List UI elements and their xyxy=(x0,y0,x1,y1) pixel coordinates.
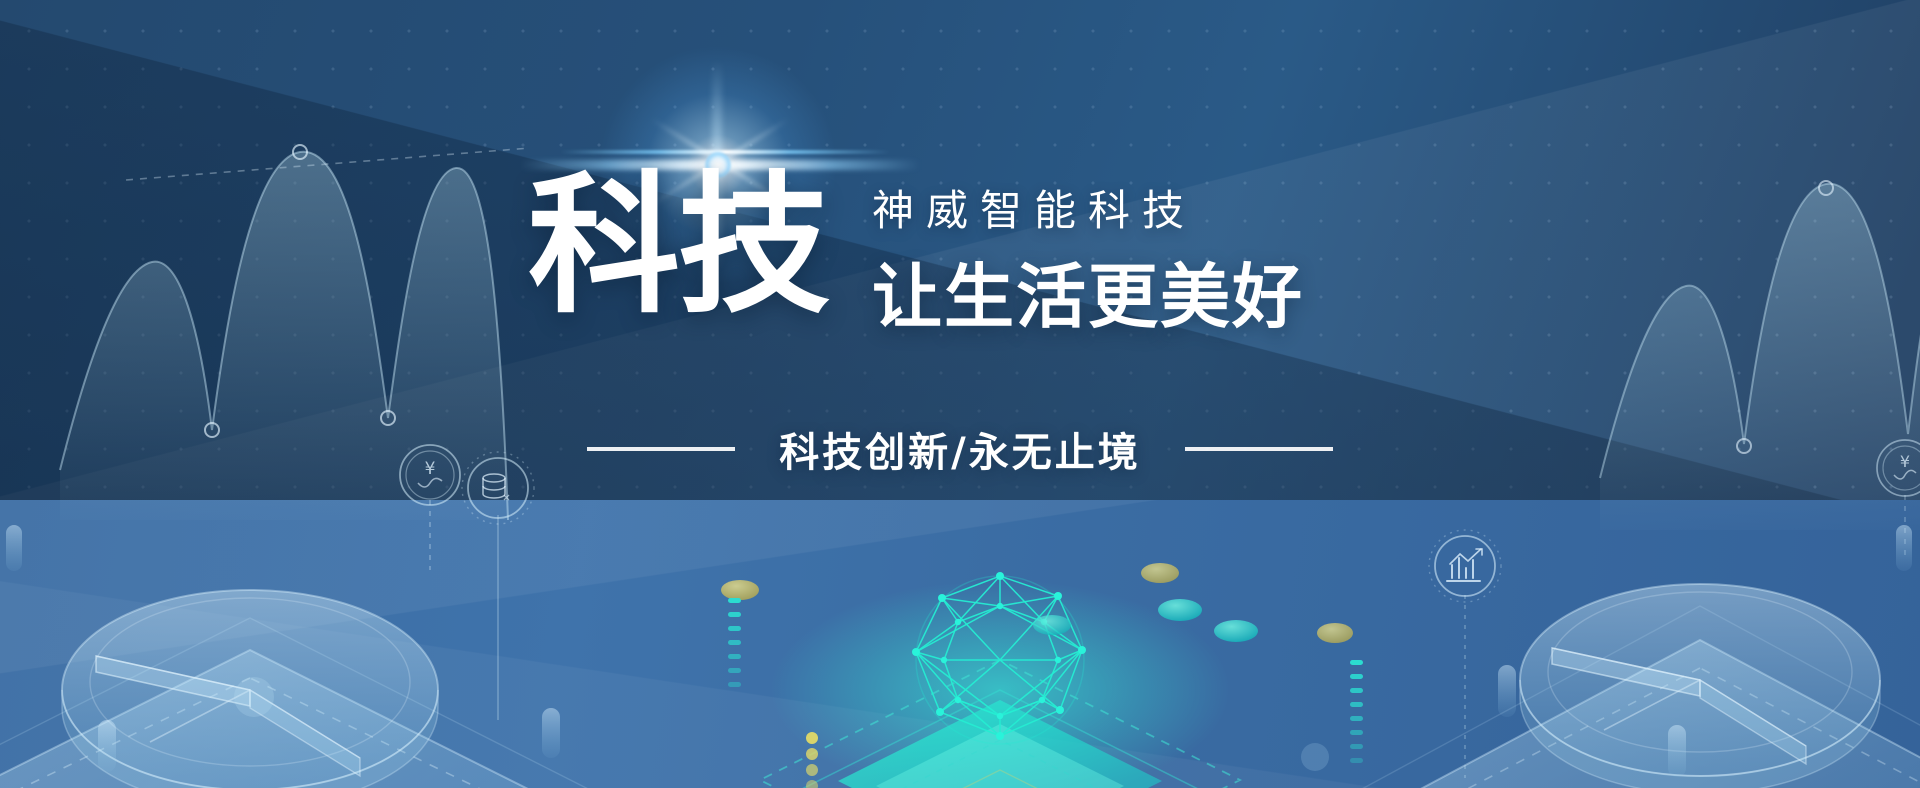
tagline-rule-right xyxy=(1185,447,1333,451)
tagline-rule-left xyxy=(587,447,735,451)
tagline-text: 科技创新/永无止境 xyxy=(779,420,1141,478)
headline-slogan: 让生活更美好 xyxy=(872,262,1304,332)
company-name: 神威智能科技 xyxy=(872,190,1196,232)
bottom-diagonal-wedge xyxy=(0,500,1920,788)
headline-keyword: 科技 xyxy=(528,170,828,322)
hero-banner: ¥ xyxy=(0,0,1920,788)
tagline-row: 科技创新/永无止境 xyxy=(0,425,1920,473)
